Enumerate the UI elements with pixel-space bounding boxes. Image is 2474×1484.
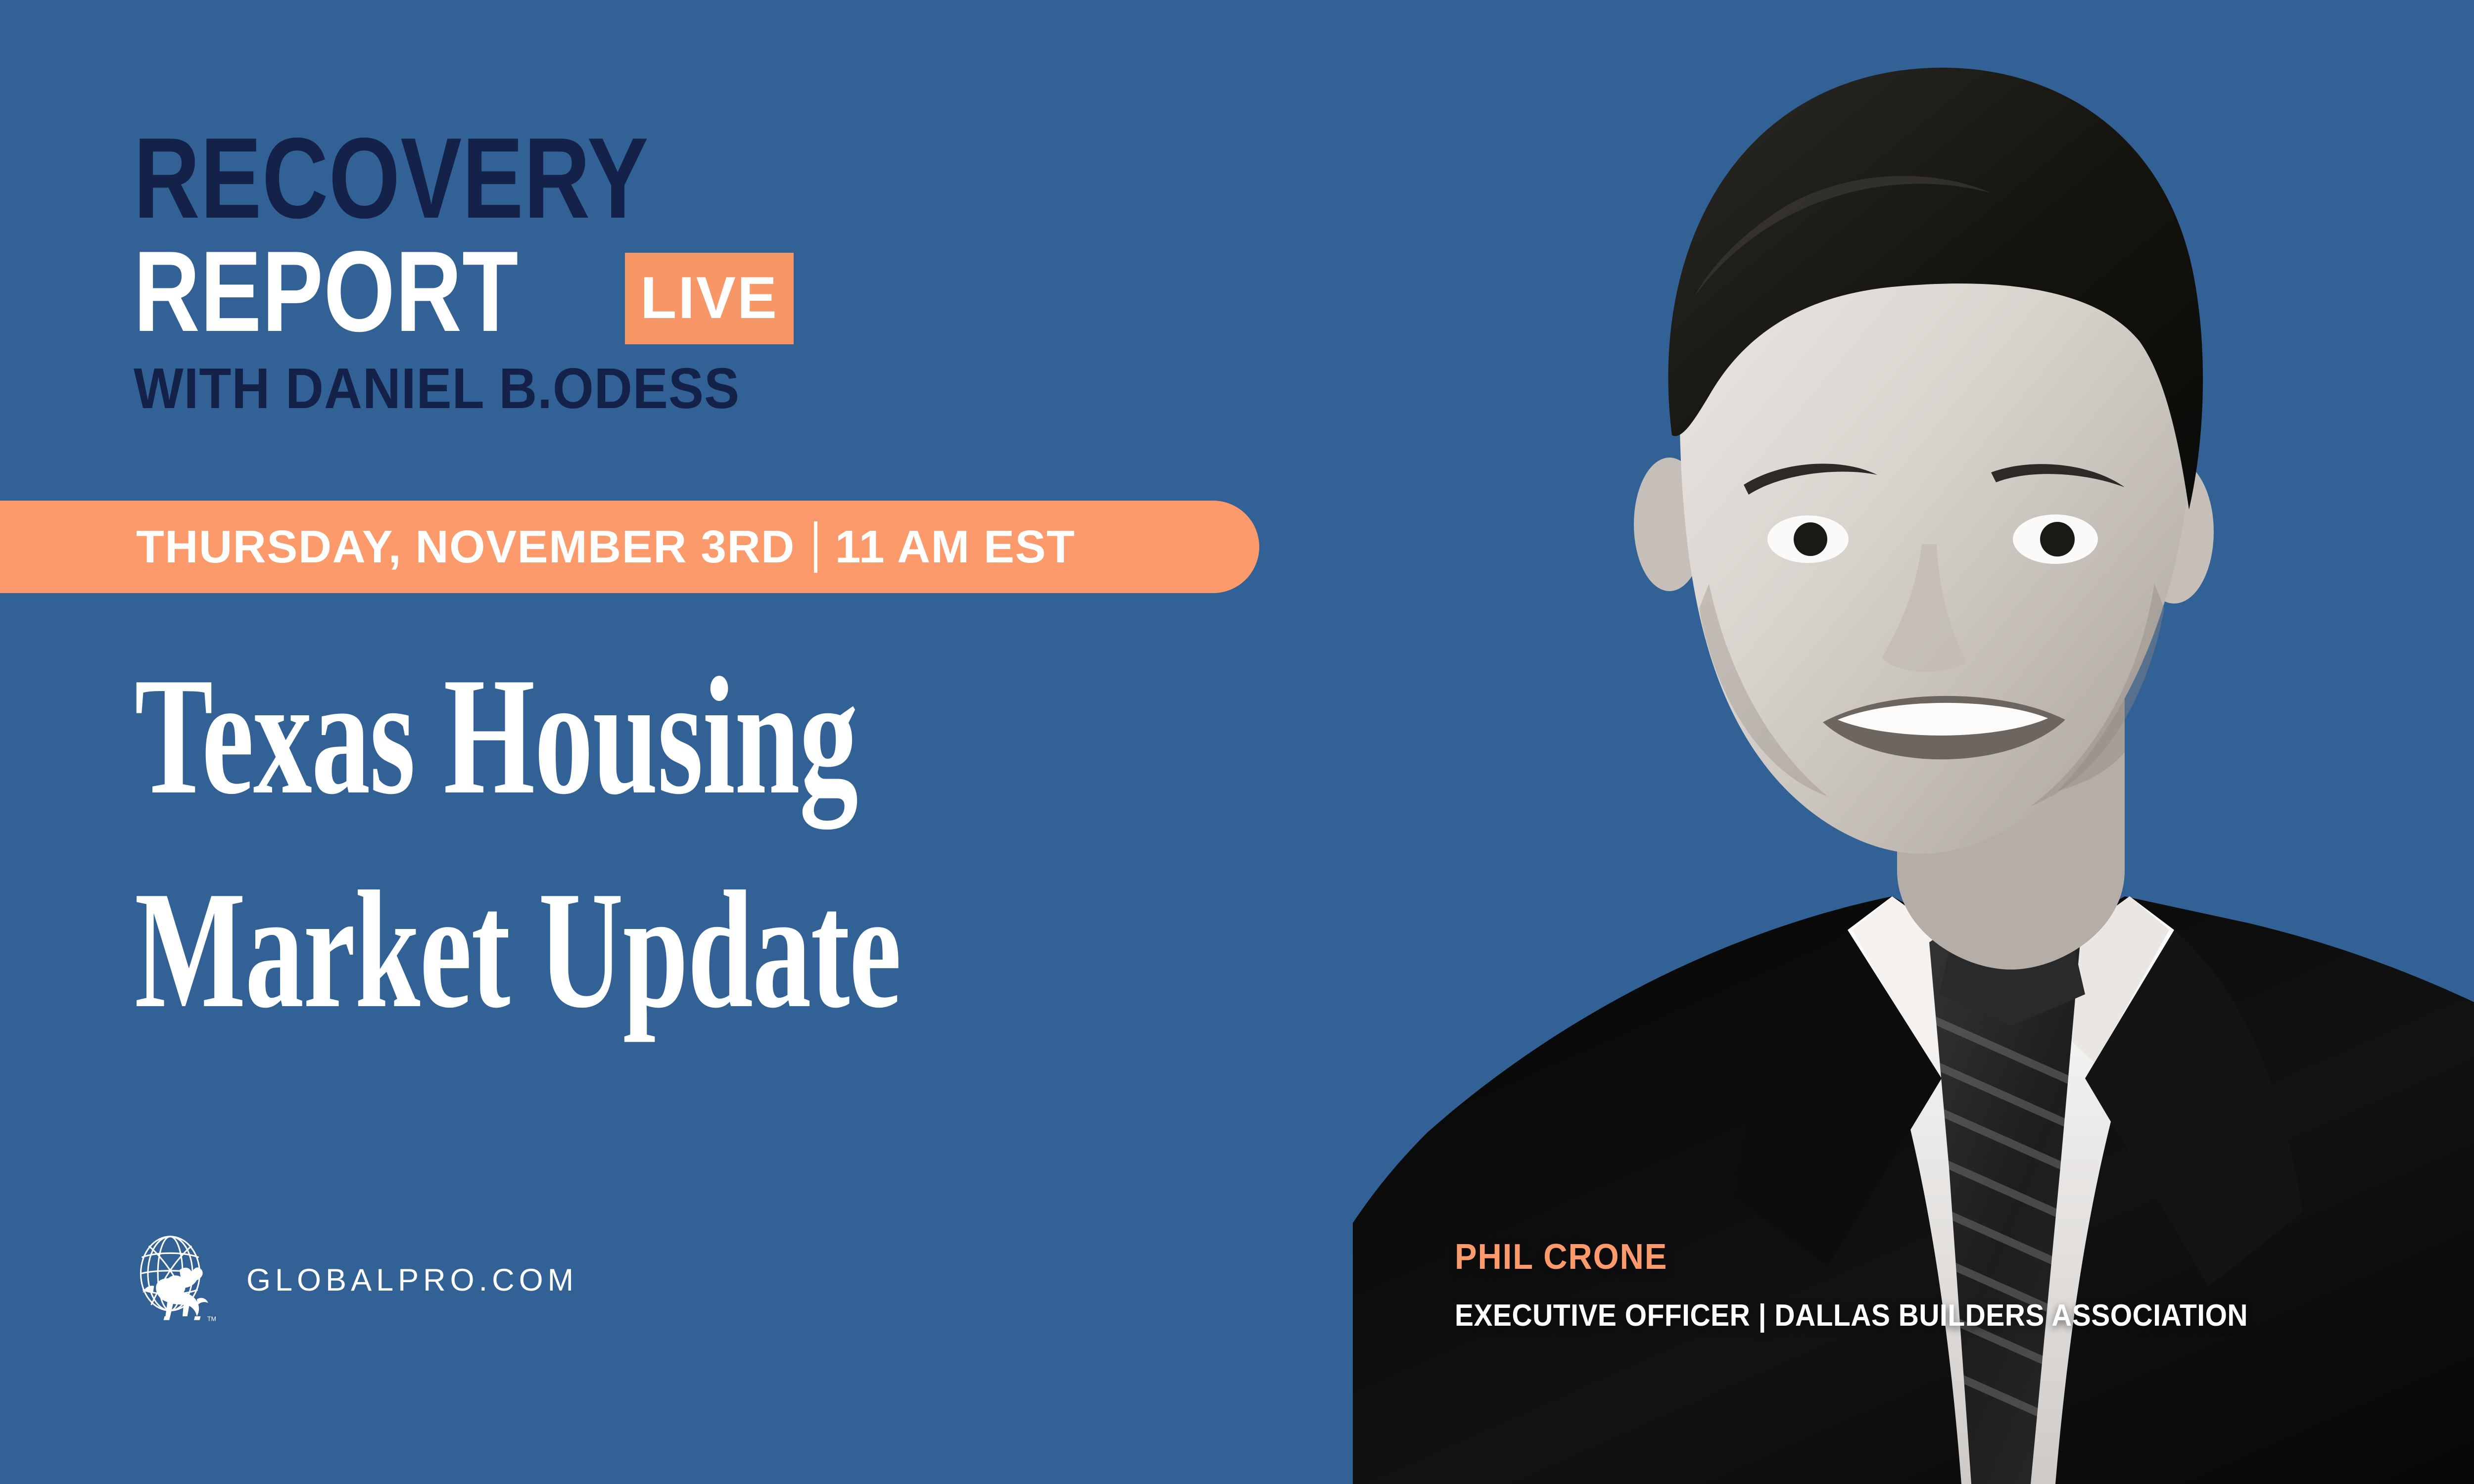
host-byline: WITH DANIEL B.ODESS (134, 355, 740, 421)
speaker-role-org: EXECUTIVE OFFICER | DALLAS BUILDERS ASSO… (1455, 1298, 2248, 1333)
live-badge-label: LIVE (640, 268, 778, 327)
globalpro-logo[interactable]: TM GLOBALPRO.COM (123, 1233, 578, 1328)
globalpro-wordmark: GLOBALPRO.COM (246, 1262, 578, 1298)
pill-divider (814, 521, 817, 573)
trademark-mark: TM (207, 1316, 216, 1323)
pupil-left (1794, 522, 1827, 556)
pupil-right (2040, 522, 2075, 556)
page-title: Texas Housing Market Update (135, 629, 901, 1057)
brand-report-text: REPORT (134, 237, 519, 347)
live-badge: LIVE (625, 253, 794, 344)
griffin-globe-icon: TM (123, 1233, 218, 1328)
speaker-caption: PHIL CRONE EXECUTIVE OFFICER | DALLAS BU… (1455, 1237, 2317, 1333)
event-date: THURSDAY, NOVEMBER 3RD (136, 520, 795, 573)
schedule-pill-content: THURSDAY, NOVEMBER 3RD 11 AM EST (136, 520, 1075, 573)
speaker-name: PHIL CRONE (1455, 1237, 2257, 1277)
schedule-pill: THURSDAY, NOVEMBER 3RD 11 AM EST (0, 501, 1259, 593)
brand-recovery-text: RECOVERY (134, 124, 649, 234)
promo-graphic-canvas: RECOVERY REPORT LIVE WITH DANIEL B.ODESS… (0, 0, 2474, 1484)
event-time: 11 AM EST (835, 520, 1076, 573)
